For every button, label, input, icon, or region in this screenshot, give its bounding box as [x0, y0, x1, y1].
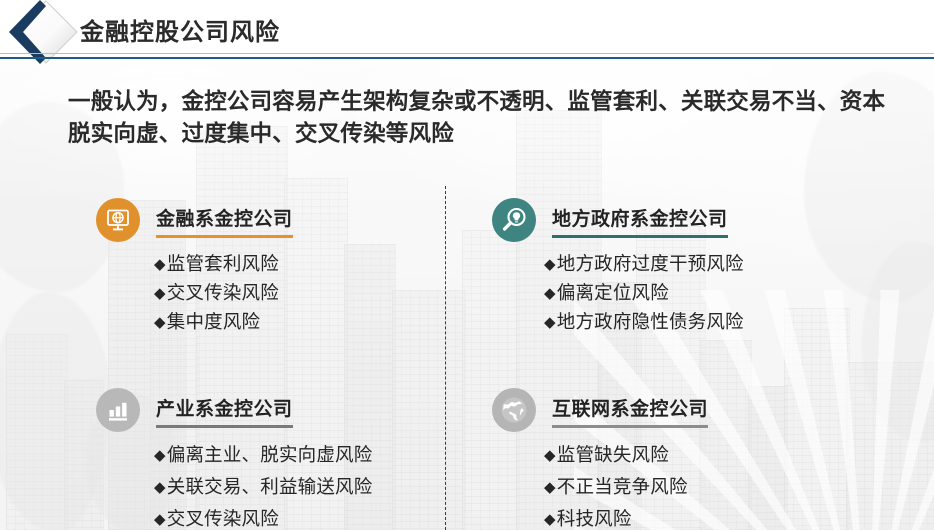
list-item: ◆监管缺失风险	[544, 440, 912, 472]
vertical-dashed-divider	[445, 186, 446, 530]
bullet-diamond-icon: ◆	[154, 285, 166, 302]
list-item: ◆不正当竞争风险	[544, 472, 912, 504]
header-divider-thin	[0, 53, 934, 54]
quadrant-industrial: 产业系金控公司 ◆偏离主业、脱实向虚风险 ◆关联交易、利益输送风险 ◆交叉传染风…	[96, 388, 436, 530]
bar-chart-icon	[96, 388, 140, 432]
bullet-diamond-icon: ◆	[154, 479, 166, 496]
bullet-diamond-icon: ◆	[544, 285, 556, 302]
earth-globe-icon	[492, 388, 536, 432]
bullet-diamond-icon: ◆	[154, 256, 166, 273]
quadrant-title: 产业系金控公司	[156, 394, 293, 428]
bullet-diamond-icon: ◆	[544, 479, 556, 496]
slide-header: 金融控股公司风险	[0, 0, 934, 56]
list-item: ◆偏离主业、脱实向虚风险	[154, 440, 436, 472]
list-item-label: 交叉传染风险	[167, 282, 279, 303]
quadrant-title: 金融系金控公司	[156, 204, 293, 238]
bullet-diamond-icon: ◆	[154, 511, 166, 528]
list-item-label: 科技风险	[557, 508, 632, 529]
list-item-label: 交叉传染风险	[167, 508, 279, 529]
list-item: ◆地方政府过度干预风险	[544, 250, 912, 279]
quadrant-local-government: 地方政府系金控公司 ◆地方政府过度干预风险 ◆偏离定位风险 ◆地方政府隐性债务风…	[492, 198, 912, 337]
risk-list: ◆偏离主业、脱实向虚风险 ◆关联交易、利益输送风险 ◆交叉传染风险	[154, 440, 436, 530]
quadrant-title: 地方政府系金控公司	[552, 204, 728, 238]
list-item-label: 监管缺失风险	[557, 444, 669, 465]
bullet-diamond-icon: ◆	[544, 511, 556, 528]
list-item-label: 偏离定位风险	[557, 282, 669, 303]
globe-monitor-icon	[96, 198, 140, 242]
slide-canvas: 金融控股公司风险 一般认为，金控公司容易产生架构复杂或不透明、监管套利、关联交易…	[0, 0, 934, 530]
quadrant-financial: 金融系金控公司 ◆监管套利风险 ◆交叉传染风险 ◆集中度风险	[96, 198, 436, 337]
risk-list: ◆地方政府过度干预风险 ◆偏离定位风险 ◆地方政府隐性债务风险	[544, 250, 912, 337]
list-item: ◆偏离定位风险	[544, 279, 912, 308]
bullet-diamond-icon: ◆	[544, 256, 556, 273]
list-item-label: 关联交易、利益输送风险	[167, 476, 373, 497]
quadrant-header: 互联网系金控公司	[492, 388, 912, 434]
list-item-label: 集中度风险	[167, 311, 261, 332]
bullet-diamond-icon: ◆	[154, 314, 166, 331]
list-item-label: 不正当竞争风险	[557, 476, 688, 497]
quadrant-header: 产业系金控公司	[96, 388, 436, 434]
list-item-label: 地方政府过度干预风险	[557, 253, 744, 274]
list-item: ◆交叉传染风险	[154, 504, 436, 530]
list-item: ◆科技风险	[544, 504, 912, 530]
list-item: ◆监管套利风险	[154, 250, 436, 279]
risk-list: ◆监管套利风险 ◆交叉传染风险 ◆集中度风险	[154, 250, 436, 337]
bullet-diamond-icon: ◆	[544, 447, 556, 464]
bullet-diamond-icon: ◆	[154, 447, 166, 464]
risk-list: ◆监管缺失风险 ◆不正当竞争风险 ◆科技风险	[544, 440, 912, 530]
header-divider-accent	[0, 57, 934, 59]
quadrant-internet: 互联网系金控公司 ◆监管缺失风险 ◆不正当竞争风险 ◆科技风险	[492, 388, 912, 530]
lead-paragraph: 一般认为，金控公司容易产生架构复杂或不透明、监管套利、关联交易不当、资本脱实向虚…	[68, 86, 898, 150]
quadrant-header: 地方政府系金控公司	[492, 198, 912, 244]
list-item: ◆集中度风险	[154, 308, 436, 337]
magnifier-icon	[492, 198, 536, 242]
list-item-label: 监管套利风险	[167, 253, 279, 274]
quadrant-header: 金融系金控公司	[96, 198, 436, 244]
quadrant-title: 互联网系金控公司	[552, 394, 708, 428]
bullet-diamond-icon: ◆	[544, 314, 556, 331]
list-item: ◆地方政府隐性债务风险	[544, 308, 912, 337]
list-item: ◆关联交易、利益输送风险	[154, 472, 436, 504]
page-title: 金融控股公司风险	[80, 12, 280, 47]
list-item-label: 地方政府隐性债务风险	[557, 311, 744, 332]
list-item: ◆交叉传染风险	[154, 279, 436, 308]
list-item-label: 偏离主业、脱实向虚风险	[167, 444, 373, 465]
